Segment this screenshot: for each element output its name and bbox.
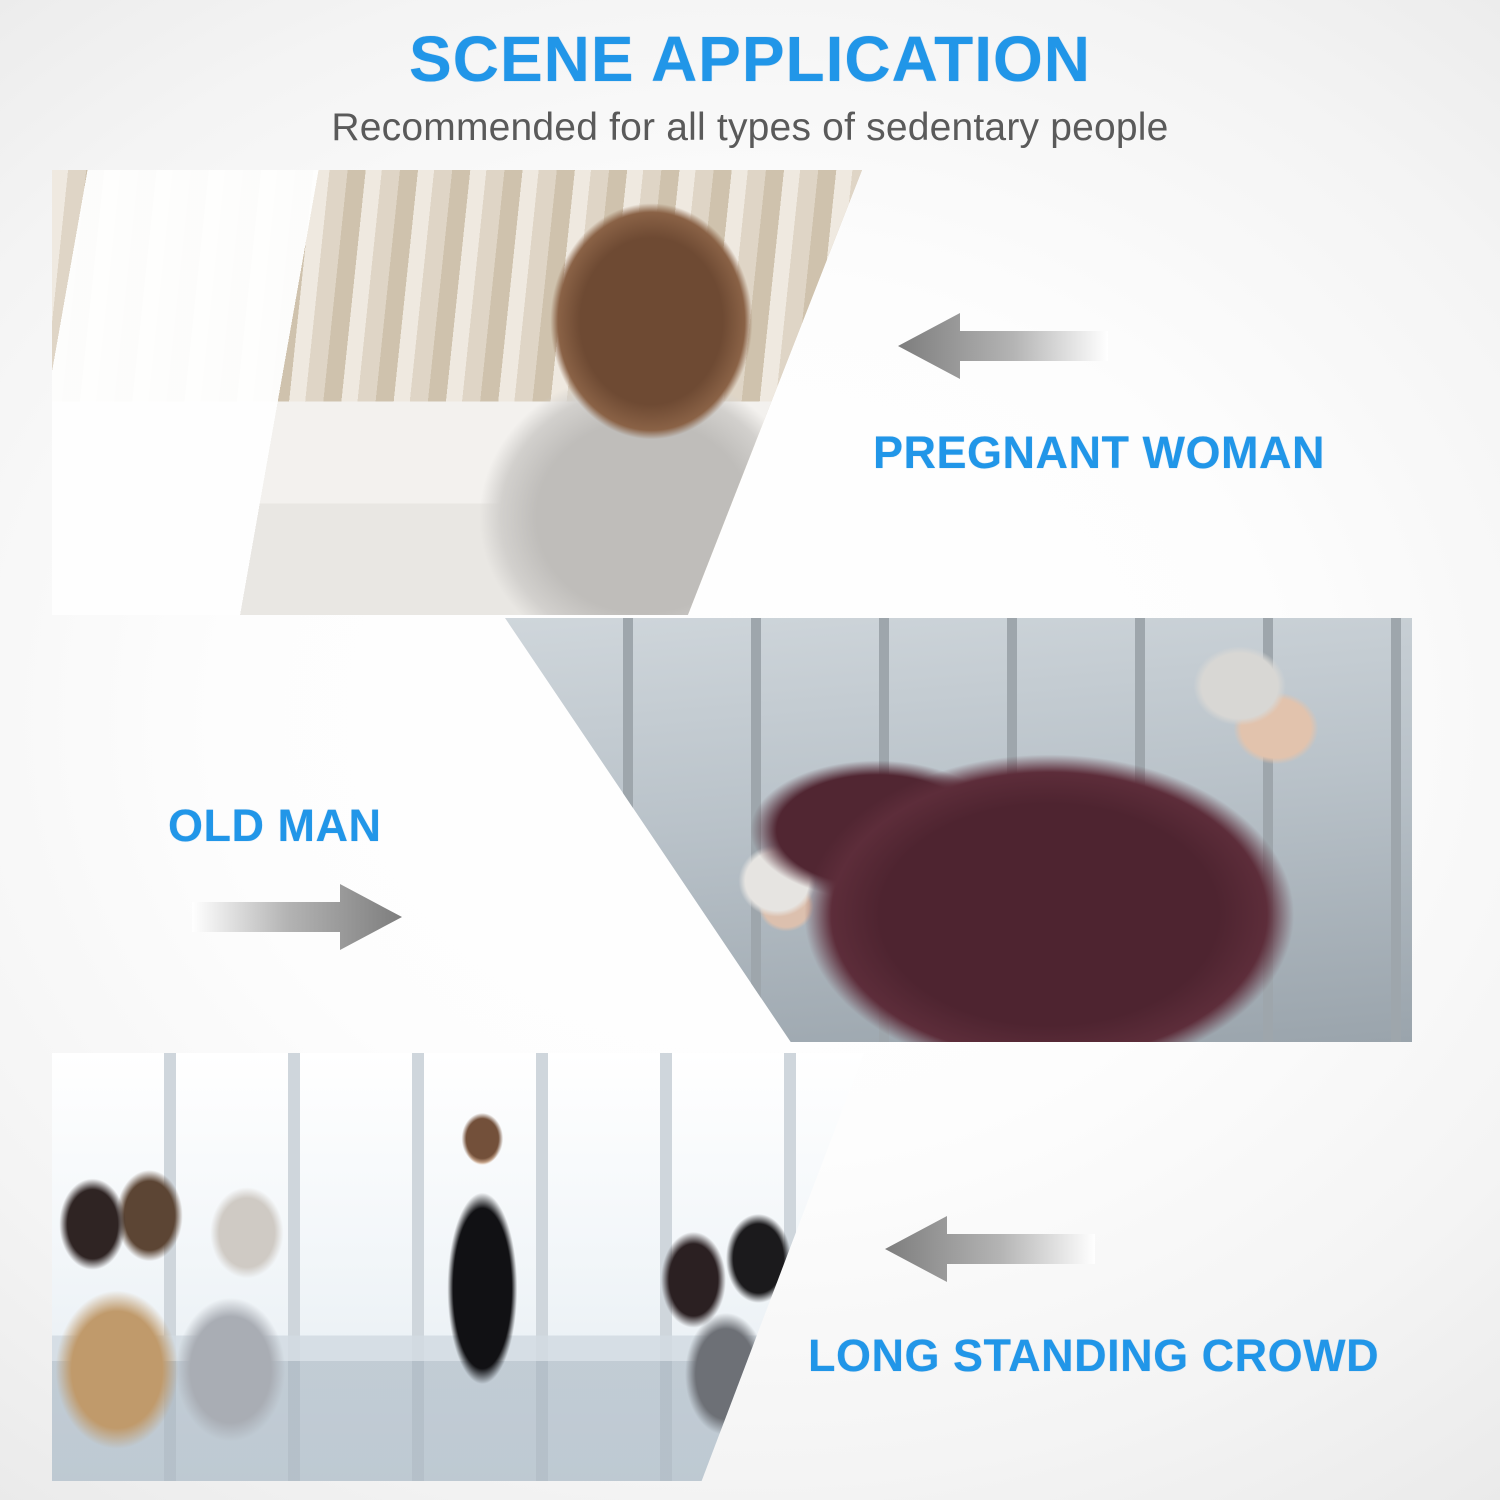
photo-pregnant-woman: [52, 170, 862, 615]
photo-old-man: [505, 618, 1412, 1042]
scene-photo-long-standing-crowd: [52, 1053, 864, 1481]
header: SCENE APPLICATION Recommended for all ty…: [0, 0, 1500, 150]
scene-label-pregnant-woman: PREGNANT WOMAN: [873, 427, 1325, 479]
scene-application-poster: SCENE APPLICATION Recommended for all ty…: [0, 0, 1500, 1500]
scene-label-old-man: OLD MAN: [168, 800, 381, 852]
scene-photo-old-man: [505, 618, 1412, 1042]
photo-long-standing-crowd: [52, 1053, 864, 1481]
arrow-left-icon: [885, 1216, 1095, 1282]
scene-photo-pregnant-woman: [52, 170, 862, 615]
arrow-left-icon: [898, 313, 1108, 379]
page-title: SCENE APPLICATION: [0, 26, 1500, 93]
page-subtitle: Recommended for all types of sedentary p…: [0, 107, 1500, 150]
scene-label-long-standing-crowd: LONG STANDING CROWD: [808, 1330, 1379, 1382]
arrow-right-icon: [192, 884, 402, 950]
